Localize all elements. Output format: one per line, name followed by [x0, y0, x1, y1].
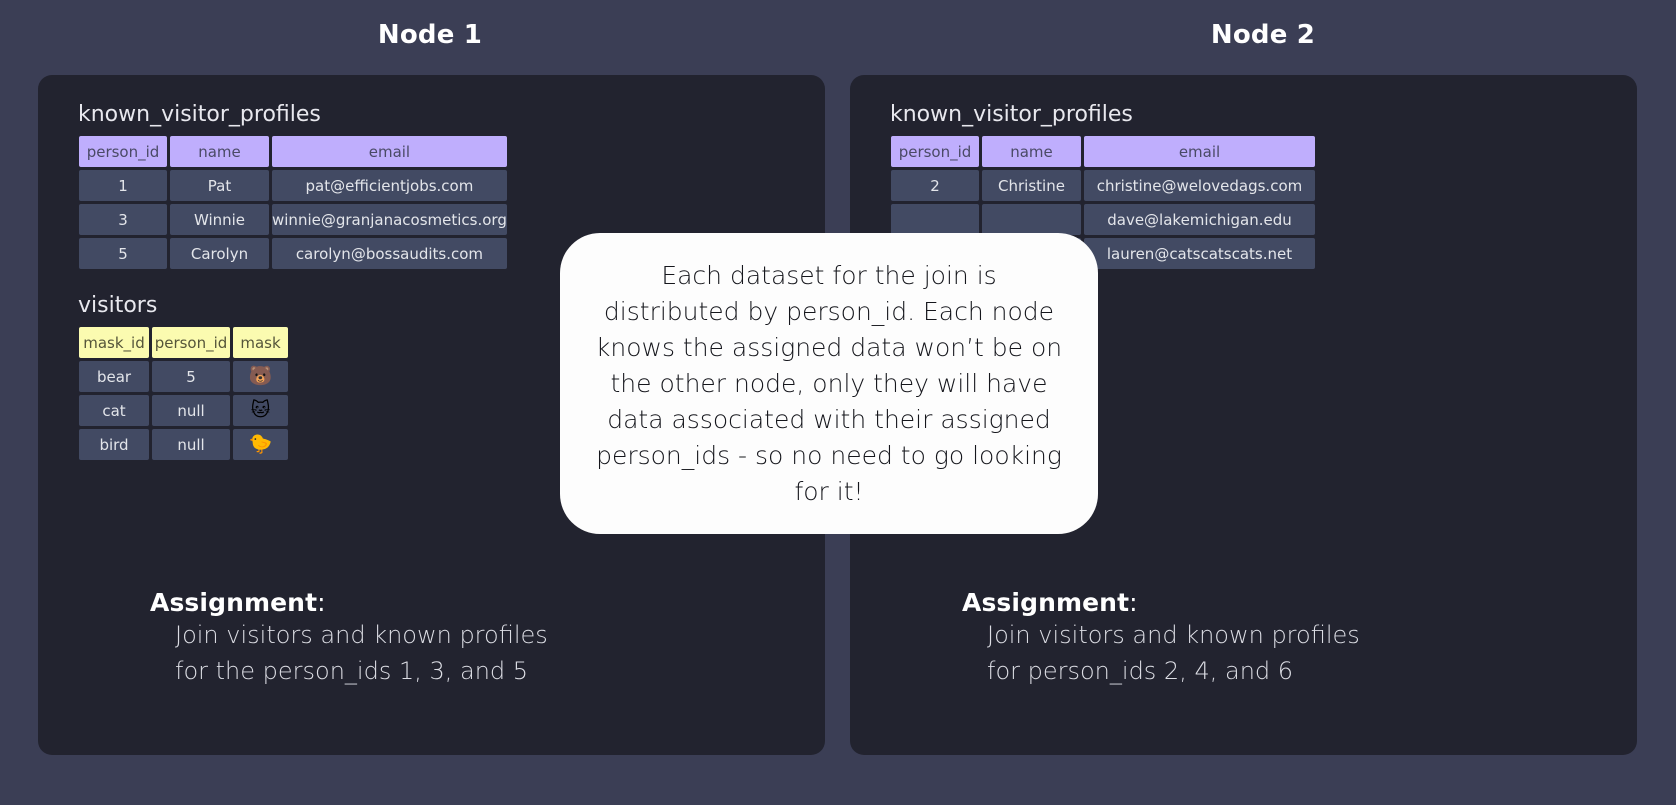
node-1-title: Node 1 [0, 20, 860, 50]
column-header-person-id: person_id [79, 136, 167, 167]
table-row: dave@lakemichigan.edu [891, 204, 1315, 235]
table-row: bear 5 🐻 [79, 361, 288, 392]
assignment-heading-colon: : [1129, 588, 1138, 617]
assignment-heading-colon: : [317, 588, 326, 617]
table-row: 5 Carolyn carolyn@bossaudits.com [79, 238, 507, 269]
column-header-email: email [272, 136, 507, 167]
node-2-assignment: Assignment: Join visitors and known prof… [962, 588, 1360, 690]
cell-person-id [891, 204, 979, 235]
cell-email: winnie@granjanacosmetics.org [272, 204, 507, 235]
cell-person-id: 3 [79, 204, 167, 235]
cell-email: dave@lakemichigan.edu [1084, 204, 1315, 235]
column-header-person-id: person_id [891, 136, 979, 167]
table-header-row: mask_id person_id mask [79, 327, 288, 358]
column-header-mask: mask [233, 327, 288, 358]
node-1-visitors-caption: visitors [78, 293, 157, 318]
table-row: cat null 🐱 [79, 395, 288, 426]
assignment-line-1: Join visitors and known profiles [987, 617, 1360, 653]
slide-canvas: Node 1 Node 2 known_visitor_profiles per… [0, 0, 1676, 805]
cell-person-id: null [152, 395, 230, 426]
callout-text: Each dataset for the join is distributed… [594, 258, 1064, 510]
table-header-row: person_id name email [891, 136, 1315, 167]
node-2-title: Node 2 [850, 20, 1676, 50]
column-header-name: name [170, 136, 269, 167]
cell-name: Carolyn [170, 238, 269, 269]
column-header-name: name [982, 136, 1081, 167]
cell-person-id: 2 [891, 170, 979, 201]
cell-mask-id: bird [79, 429, 149, 460]
assignment-line-2: for the person_ids 1, 3, and 5 [175, 653, 548, 689]
bird-icon: 🐤 [233, 429, 288, 460]
cell-person-id: null [152, 429, 230, 460]
column-header-person-id: person_id [152, 327, 230, 358]
assignment-heading: Assignment: [962, 588, 1360, 617]
table-row: 1 Pat pat@efficientjobs.com [79, 170, 507, 201]
node-1-profiles-caption: known_visitor_profiles [78, 102, 321, 127]
column-header-email: email [1084, 136, 1315, 167]
cell-email: lauren@catscatscats.net [1084, 238, 1315, 269]
cell-email: pat@efficientjobs.com [272, 170, 507, 201]
column-header-mask-id: mask_id [79, 327, 149, 358]
cell-mask-id: bear [79, 361, 149, 392]
cell-email: christine@welovedags.com [1084, 170, 1315, 201]
node-2-profiles-caption: known_visitor_profiles [890, 102, 1133, 127]
cell-person-id: 5 [152, 361, 230, 392]
cell-person-id: 1 [79, 170, 167, 201]
cell-name [982, 204, 1081, 235]
table-row: 2 Christine christine@welovedags.com [891, 170, 1315, 201]
node-1-profiles-table: person_id name email 1 Pat pat@efficient… [76, 133, 510, 272]
node-1-visitors-table: mask_id person_id mask bear 5 🐻 cat null… [76, 324, 291, 463]
assignment-heading-text: Assignment [150, 588, 317, 617]
table-row: 3 Winnie winnie@granjanacosmetics.org [79, 204, 507, 235]
table-header-row: person_id name email [79, 136, 507, 167]
assignment-heading-text: Assignment [962, 588, 1129, 617]
cell-name: Christine [982, 170, 1081, 201]
node-1-assignment: Assignment: Join visitors and known prof… [150, 588, 548, 690]
cell-email: carolyn@bossaudits.com [272, 238, 507, 269]
table-row: bird null 🐤 [79, 429, 288, 460]
callout-bubble: Each dataset for the join is distributed… [560, 233, 1098, 534]
cat-icon: 🐱 [233, 395, 288, 426]
cell-name: Winnie [170, 204, 269, 235]
cell-person-id: 5 [79, 238, 167, 269]
bear-icon: 🐻 [233, 361, 288, 392]
cell-mask-id: cat [79, 395, 149, 426]
assignment-line-1: Join visitors and known profiles [175, 617, 548, 653]
assignment-heading: Assignment: [150, 588, 548, 617]
assignment-line-2: for person_ids 2, 4, and 6 [987, 653, 1360, 689]
cell-name: Pat [170, 170, 269, 201]
